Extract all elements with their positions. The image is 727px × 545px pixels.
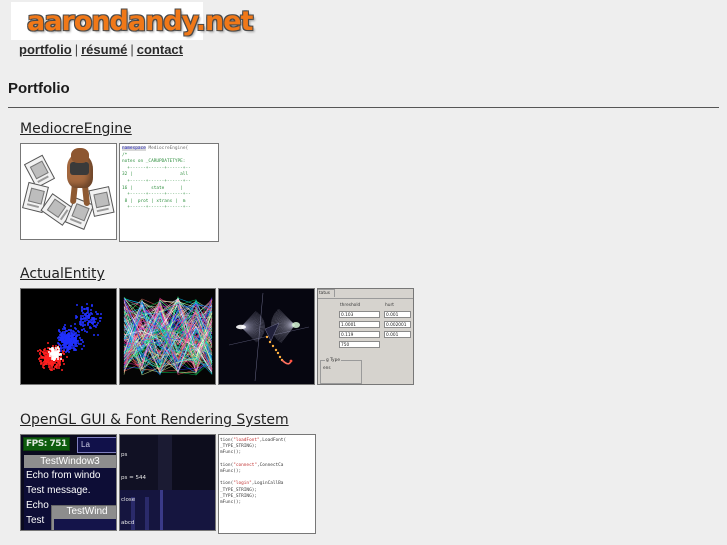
thumb-actualentity-particles[interactable] bbox=[218, 288, 315, 385]
dialog-field-threshold-3[interactable]: 0.119 bbox=[339, 331, 380, 338]
code-namespace-name: MediocreEngine{ bbox=[148, 146, 188, 151]
thumb-mediocreengine-code[interactable]: namespace MediocreEngine{ /* notes on _C… bbox=[119, 143, 219, 242]
thumbnail-row-actualentity: tatus threshold hurt 0.103 1.0001 0.119 … bbox=[20, 288, 414, 385]
site-logo: aarondandy.net bbox=[27, 6, 252, 37]
section-title-mediocreengine[interactable]: MediocreEngine bbox=[20, 121, 219, 137]
page-title: Portfolio bbox=[8, 80, 70, 97]
dialog-group-text: ens bbox=[323, 366, 331, 371]
nav-link-contact[interactable]: contact bbox=[137, 42, 183, 57]
dialog-field-hurt-3[interactable]: 0.001 bbox=[384, 331, 411, 338]
console-line-1: ps bbox=[121, 452, 195, 460]
console-line-4: abcd bbox=[121, 520, 195, 528]
section-title-opengl[interactable]: OpenGL GUI & Font Rendering System bbox=[20, 412, 316, 428]
thumb-opengl-gui[interactable]: FPS: 751 La TestWindow3 Echo from windo … bbox=[20, 434, 117, 531]
gl-log-line-2: Test message. bbox=[26, 483, 117, 498]
fps-counter: FPS: 751 bbox=[23, 437, 70, 451]
dog-head bbox=[71, 148, 89, 163]
thumb-opengl-console[interactable]: ps ps = 544 close abcd Syntax error: fun… bbox=[119, 434, 216, 531]
section-actualentity: ActualEntity tatus threshold hurt 0.103 … bbox=[20, 266, 414, 385]
thumb-actualentity-scatter[interactable] bbox=[20, 288, 117, 385]
gl-window-titlebar[interactable]: TestWindow3 bbox=[24, 455, 116, 468]
code-keyword: namespace bbox=[122, 146, 146, 151]
main-nav: portfolio|résumé|contact bbox=[19, 42, 183, 57]
console-line-3: close bbox=[121, 497, 195, 505]
portfolio-page: aarondandy.net portfolio|résumé|contact … bbox=[0, 0, 727, 545]
gl-subwindow[interactable]: TestWind bbox=[51, 505, 117, 531]
dog-backpack bbox=[70, 162, 89, 175]
dialog-column-hurt: hurt bbox=[385, 303, 394, 308]
section-opengl: OpenGL GUI & Font Rendering System FPS: … bbox=[20, 412, 316, 534]
nav-link-resume[interactable]: résumé bbox=[81, 42, 127, 57]
thumbnail-row-opengl: FPS: 751 La TestWindow3 Echo from windo … bbox=[20, 434, 316, 534]
nav-link-portfolio[interactable]: portfolio bbox=[19, 42, 72, 57]
thumb-mediocreengine-render[interactable] bbox=[20, 143, 117, 240]
thumb-actualentity-dialog[interactable]: tatus threshold hurt 0.103 1.0001 0.119 … bbox=[317, 288, 414, 385]
console-output: ps ps = 544 close abcd Syntax error: fun… bbox=[121, 437, 195, 531]
section-mediocreengine: MediocreEngine namespace MediocreEngine{… bbox=[20, 121, 219, 242]
section-title-actualentity[interactable]: ActualEntity bbox=[20, 266, 414, 282]
dialog-tab-status[interactable]: tatus bbox=[317, 289, 335, 297]
gl-panel-button[interactable]: La bbox=[77, 437, 117, 453]
nav-separator-1: | bbox=[72, 42, 81, 57]
thumbnail-row-mediocreengine: namespace MediocreEngine{ /* notes on _C… bbox=[20, 143, 219, 242]
dialog-column-threshold: threshold bbox=[340, 303, 360, 308]
dialog-field-threshold-4[interactable]: 750 bbox=[339, 341, 380, 348]
dialog-field-hurt-1[interactable]: 0.001 bbox=[384, 311, 411, 318]
dialog-group-label: g Type bbox=[325, 358, 341, 363]
parallel-coordinates-svg bbox=[120, 289, 215, 384]
code-body: /* notes on _CARUPDATETYPE: +------+----… bbox=[122, 153, 191, 211]
title-divider bbox=[8, 107, 719, 108]
nav-separator-2: | bbox=[127, 42, 136, 57]
gl-subwindow-title: TestWind bbox=[52, 506, 117, 518]
logo-banner: aarondandy.net bbox=[11, 2, 203, 40]
gl-log-line-1: Echo from windo bbox=[26, 468, 117, 483]
card-5 bbox=[88, 186, 114, 217]
particles-svg bbox=[219, 289, 314, 384]
thumb-actualentity-parallel[interactable] bbox=[119, 288, 216, 385]
thumb-opengl-code[interactable]: tion("loadFont",LoadFont(_TYPE_STRING);m… bbox=[218, 434, 316, 534]
dialog-field-hurt-2[interactable]: 0.002001 bbox=[384, 321, 411, 328]
dialog-group-type: g Type ens bbox=[320, 360, 362, 384]
dialog-field-threshold-1[interactable]: 0.103 bbox=[339, 311, 380, 318]
console-line-2: ps = 544 bbox=[121, 475, 195, 483]
dialog-field-threshold-2[interactable]: 1.0001 bbox=[339, 321, 380, 328]
gl-subwindow-body bbox=[54, 519, 117, 530]
